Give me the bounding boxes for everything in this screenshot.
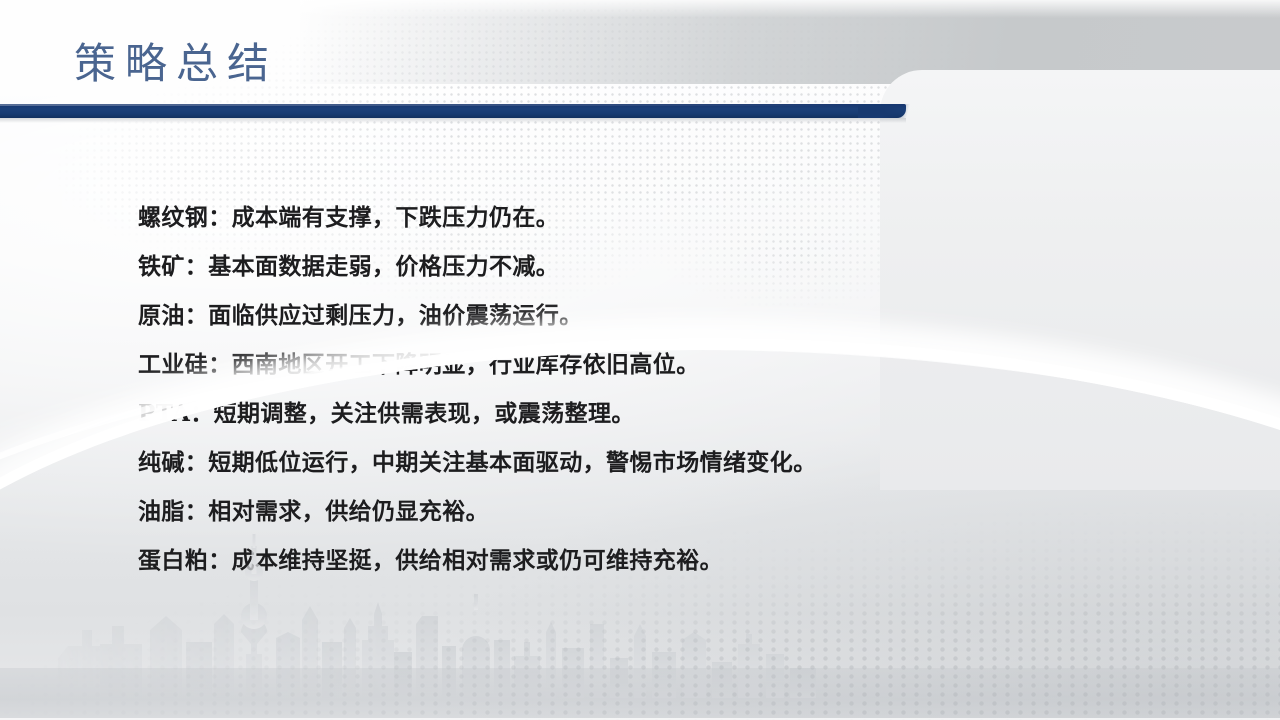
bottom-floor-shading bbox=[0, 668, 1280, 720]
list-item: 铁矿：基本面数据走弱，价格压力不减。 bbox=[138, 242, 1198, 291]
slide-canvas: 策略总结 螺纹钢：成本端有支撑，下跌压力仍在。 铁矿：基本面数据走弱，价格压力不… bbox=[0, 0, 1280, 720]
header-band-sheen bbox=[300, 0, 1280, 18]
list-item: 螺纹钢：成本端有支撑，下跌压力仍在。 bbox=[138, 193, 1198, 242]
title-rule-shadow bbox=[0, 118, 906, 123]
page-title: 策略总结 bbox=[74, 38, 278, 90]
title-accent-rule bbox=[0, 104, 906, 118]
title-rule-highlight bbox=[0, 104, 880, 106]
title-rule-taper-cap bbox=[858, 104, 918, 118]
list-item: 原油：面临供应过剩压力，油价震荡运行。 bbox=[138, 291, 1198, 340]
